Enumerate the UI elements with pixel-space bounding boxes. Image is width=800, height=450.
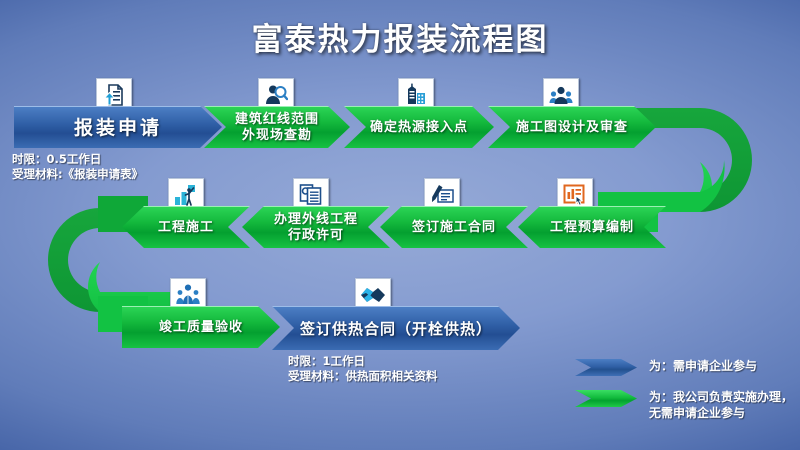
- legend: 为：需申请企业参与 为：我公司负责实施办理， 无需申请企业参与: [575, 358, 800, 434]
- note-gongre-hetong: 时限：1工作日 受理材料：供热面积相关资料: [288, 354, 438, 384]
- legend-label-line1: 为：我公司负责实施办理，: [649, 390, 793, 404]
- flow-step-gongcheng-shigong[interactable]: 工程施工: [122, 206, 250, 248]
- flow-step-jungong-yanshou[interactable]: 竣工质量验收: [122, 306, 280, 348]
- legend-label-line1: 为：需申请企业参与: [649, 359, 757, 373]
- flow-step-label-line1: 办理外线工程: [274, 212, 358, 227]
- legend-item-applicant: 为：需申请企业参与: [575, 358, 800, 376]
- note-line2: 受理材料:《报装申请表》: [12, 167, 143, 182]
- flow-step-baozhuang-shenqing[interactable]: 报装申请: [14, 106, 222, 148]
- flow-step-label: 工程预算编制: [544, 220, 640, 236]
- flow-step-label-line2: 外现场查勘: [242, 128, 312, 143]
- flow-step-label: 报装申请: [68, 120, 168, 136]
- legend-label-line2: 无需申请企业参与: [649, 406, 745, 420]
- flow-step-hongxian-chakan[interactable]: 建筑红线范围 外现场查勘: [204, 106, 350, 148]
- legend-item-company: 为：我公司负责实施办理， 无需申请企业参与: [575, 389, 800, 421]
- flowchart-canvas: 富泰热力报装流程图: [0, 0, 800, 450]
- flow-step-waixian-xuke[interactable]: 办理外线工程 行政许可: [242, 206, 390, 248]
- page-title: 富泰热力报装流程图: [0, 14, 800, 59]
- flow-step-label: 竣工质量验收: [153, 320, 249, 336]
- flow-step-shigong-hetong[interactable]: 签订施工合同: [380, 206, 528, 248]
- flow-step-label: 确定热源接入点: [364, 120, 474, 136]
- legend-swatch-blue-icon: [575, 359, 637, 376]
- flow-step-reyuan-jierudian[interactable]: 确定热源接入点: [344, 106, 494, 148]
- flow-step-shigongtu-shencha[interactable]: 施工图设计及审查: [488, 106, 656, 148]
- flow-step-yusuan-bianzhi[interactable]: 工程预算编制: [518, 206, 666, 248]
- legend-swatch-green-icon: [575, 390, 637, 407]
- flow-step-label: 施工图设计及审查: [510, 120, 634, 136]
- note-line1: 时限：0.5工作日: [12, 152, 143, 167]
- flow-step-label: 签订供热合同（开栓供热）: [294, 321, 498, 337]
- flow-step-label: 工程施工: [152, 220, 220, 236]
- flow-step-label-line1: 建筑红线范围: [235, 112, 319, 127]
- note-baozhuang-shenqing: 时限：0.5工作日 受理材料:《报装申请表》: [12, 152, 143, 182]
- flow-step-label-line2: 行政许可: [288, 228, 344, 243]
- flow-step-label: 签订施工合同: [406, 220, 502, 236]
- flow-step-gongre-hetong[interactable]: 签订供热合同（开栓供热）: [272, 306, 520, 350]
- note-line2: 受理材料：供热面积相关资料: [288, 369, 438, 384]
- note-line1: 时限：1工作日: [288, 354, 438, 369]
